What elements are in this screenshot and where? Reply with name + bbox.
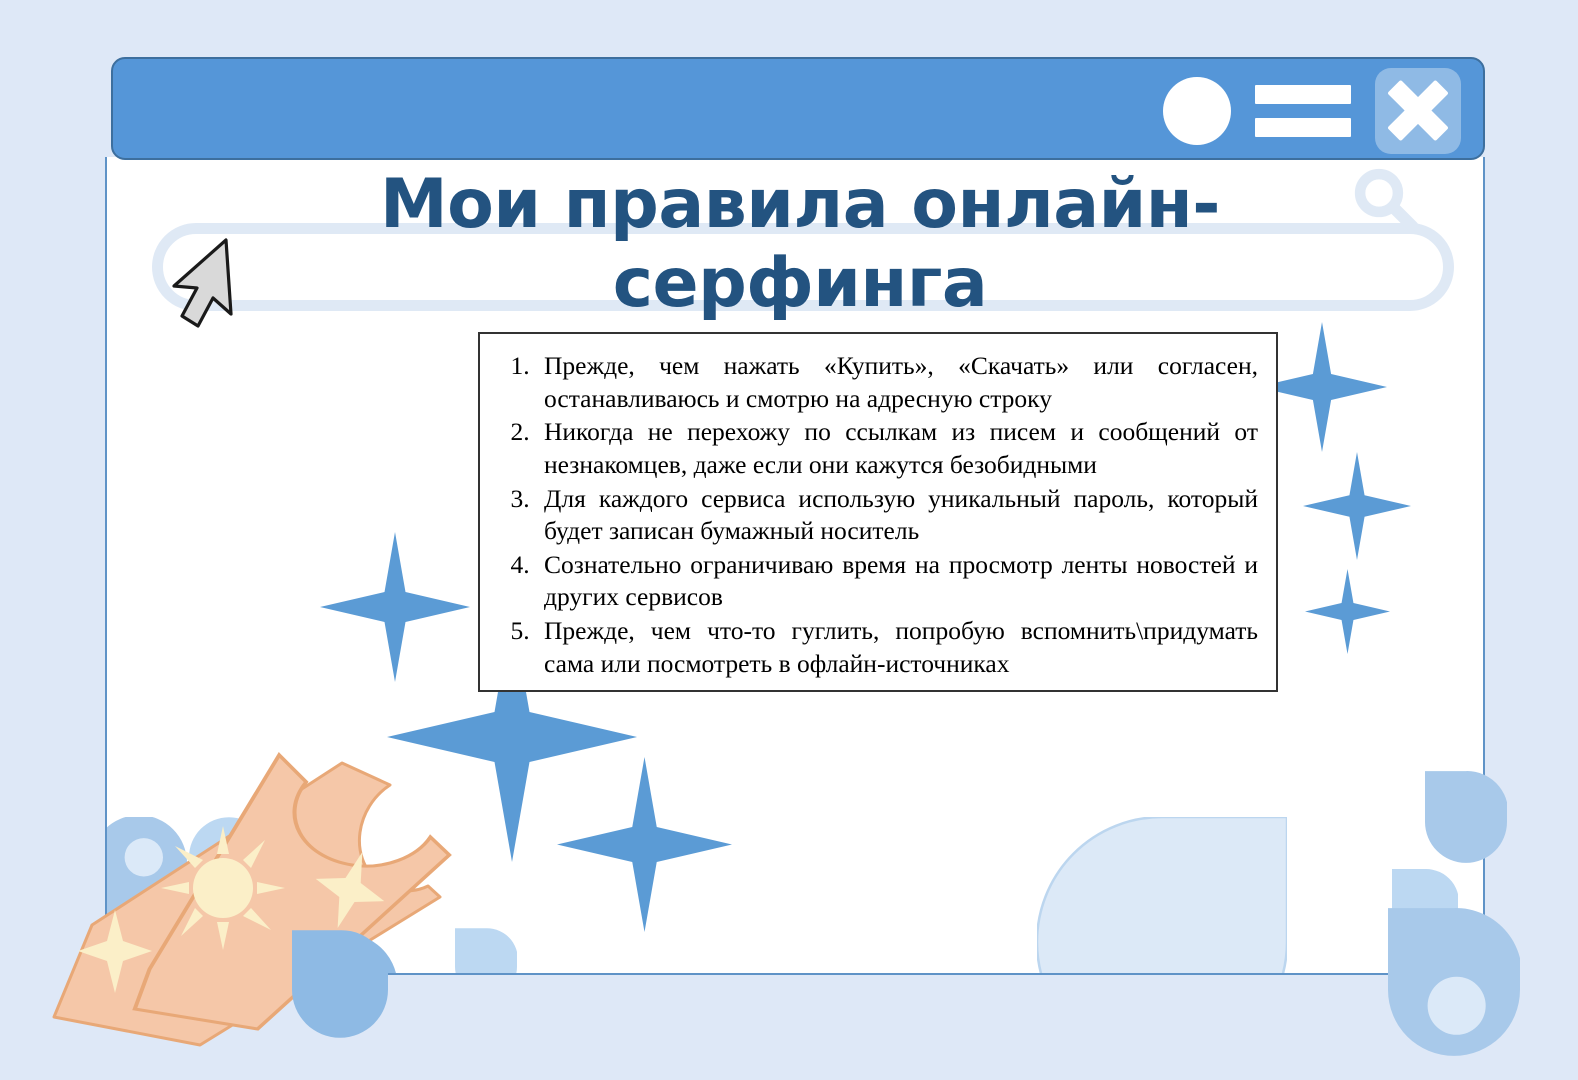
decorative-pin-right-top: [1425, 768, 1507, 866]
list-item: Прежде, чем что-то гуглить, попробую всп…: [536, 615, 1258, 680]
search-icon[interactable]: [1351, 165, 1421, 235]
menu-bars-icon[interactable]: [1255, 85, 1351, 137]
decorative-pin-bottom-left: [292, 930, 388, 1038]
decorative-pin-right-bottom: [1388, 908, 1520, 1056]
browser-titlebar: [111, 57, 1485, 160]
mouse-cursor-icon: [168, 228, 258, 338]
slide-canvas: Мои правила онлайн- серфинга Прежде, чем…: [0, 0, 1578, 1080]
decorative-star-center-low: [557, 757, 732, 932]
close-icon[interactable]: [1375, 68, 1461, 154]
list-item: Никогда не перехожу по ссылкам из писем …: [536, 416, 1258, 481]
window-controls: [1163, 59, 1461, 162]
decorative-star-right-mid: [1303, 452, 1411, 560]
list-item: Для каждого сервиса использую уникальный…: [536, 483, 1258, 548]
rules-list: Прежде, чем нажать «Купить», «Скачать» и…: [480, 334, 1276, 680]
decorative-teardrop-large: [1037, 817, 1287, 975]
decorative-orange-banner: [40, 745, 470, 1055]
list-item: Прежде, чем нажать «Купить», «Скачать» и…: [536, 350, 1258, 415]
rules-textbox: Прежде, чем нажать «Купить», «Скачать» и…: [478, 332, 1278, 692]
page-title: Мои правила онлайн- серфинга: [300, 166, 1300, 324]
list-item: Сознательно ограничиваю время на просмот…: [536, 549, 1258, 614]
circle-icon[interactable]: [1163, 77, 1231, 145]
decorative-star-right-low: [1305, 569, 1390, 654]
